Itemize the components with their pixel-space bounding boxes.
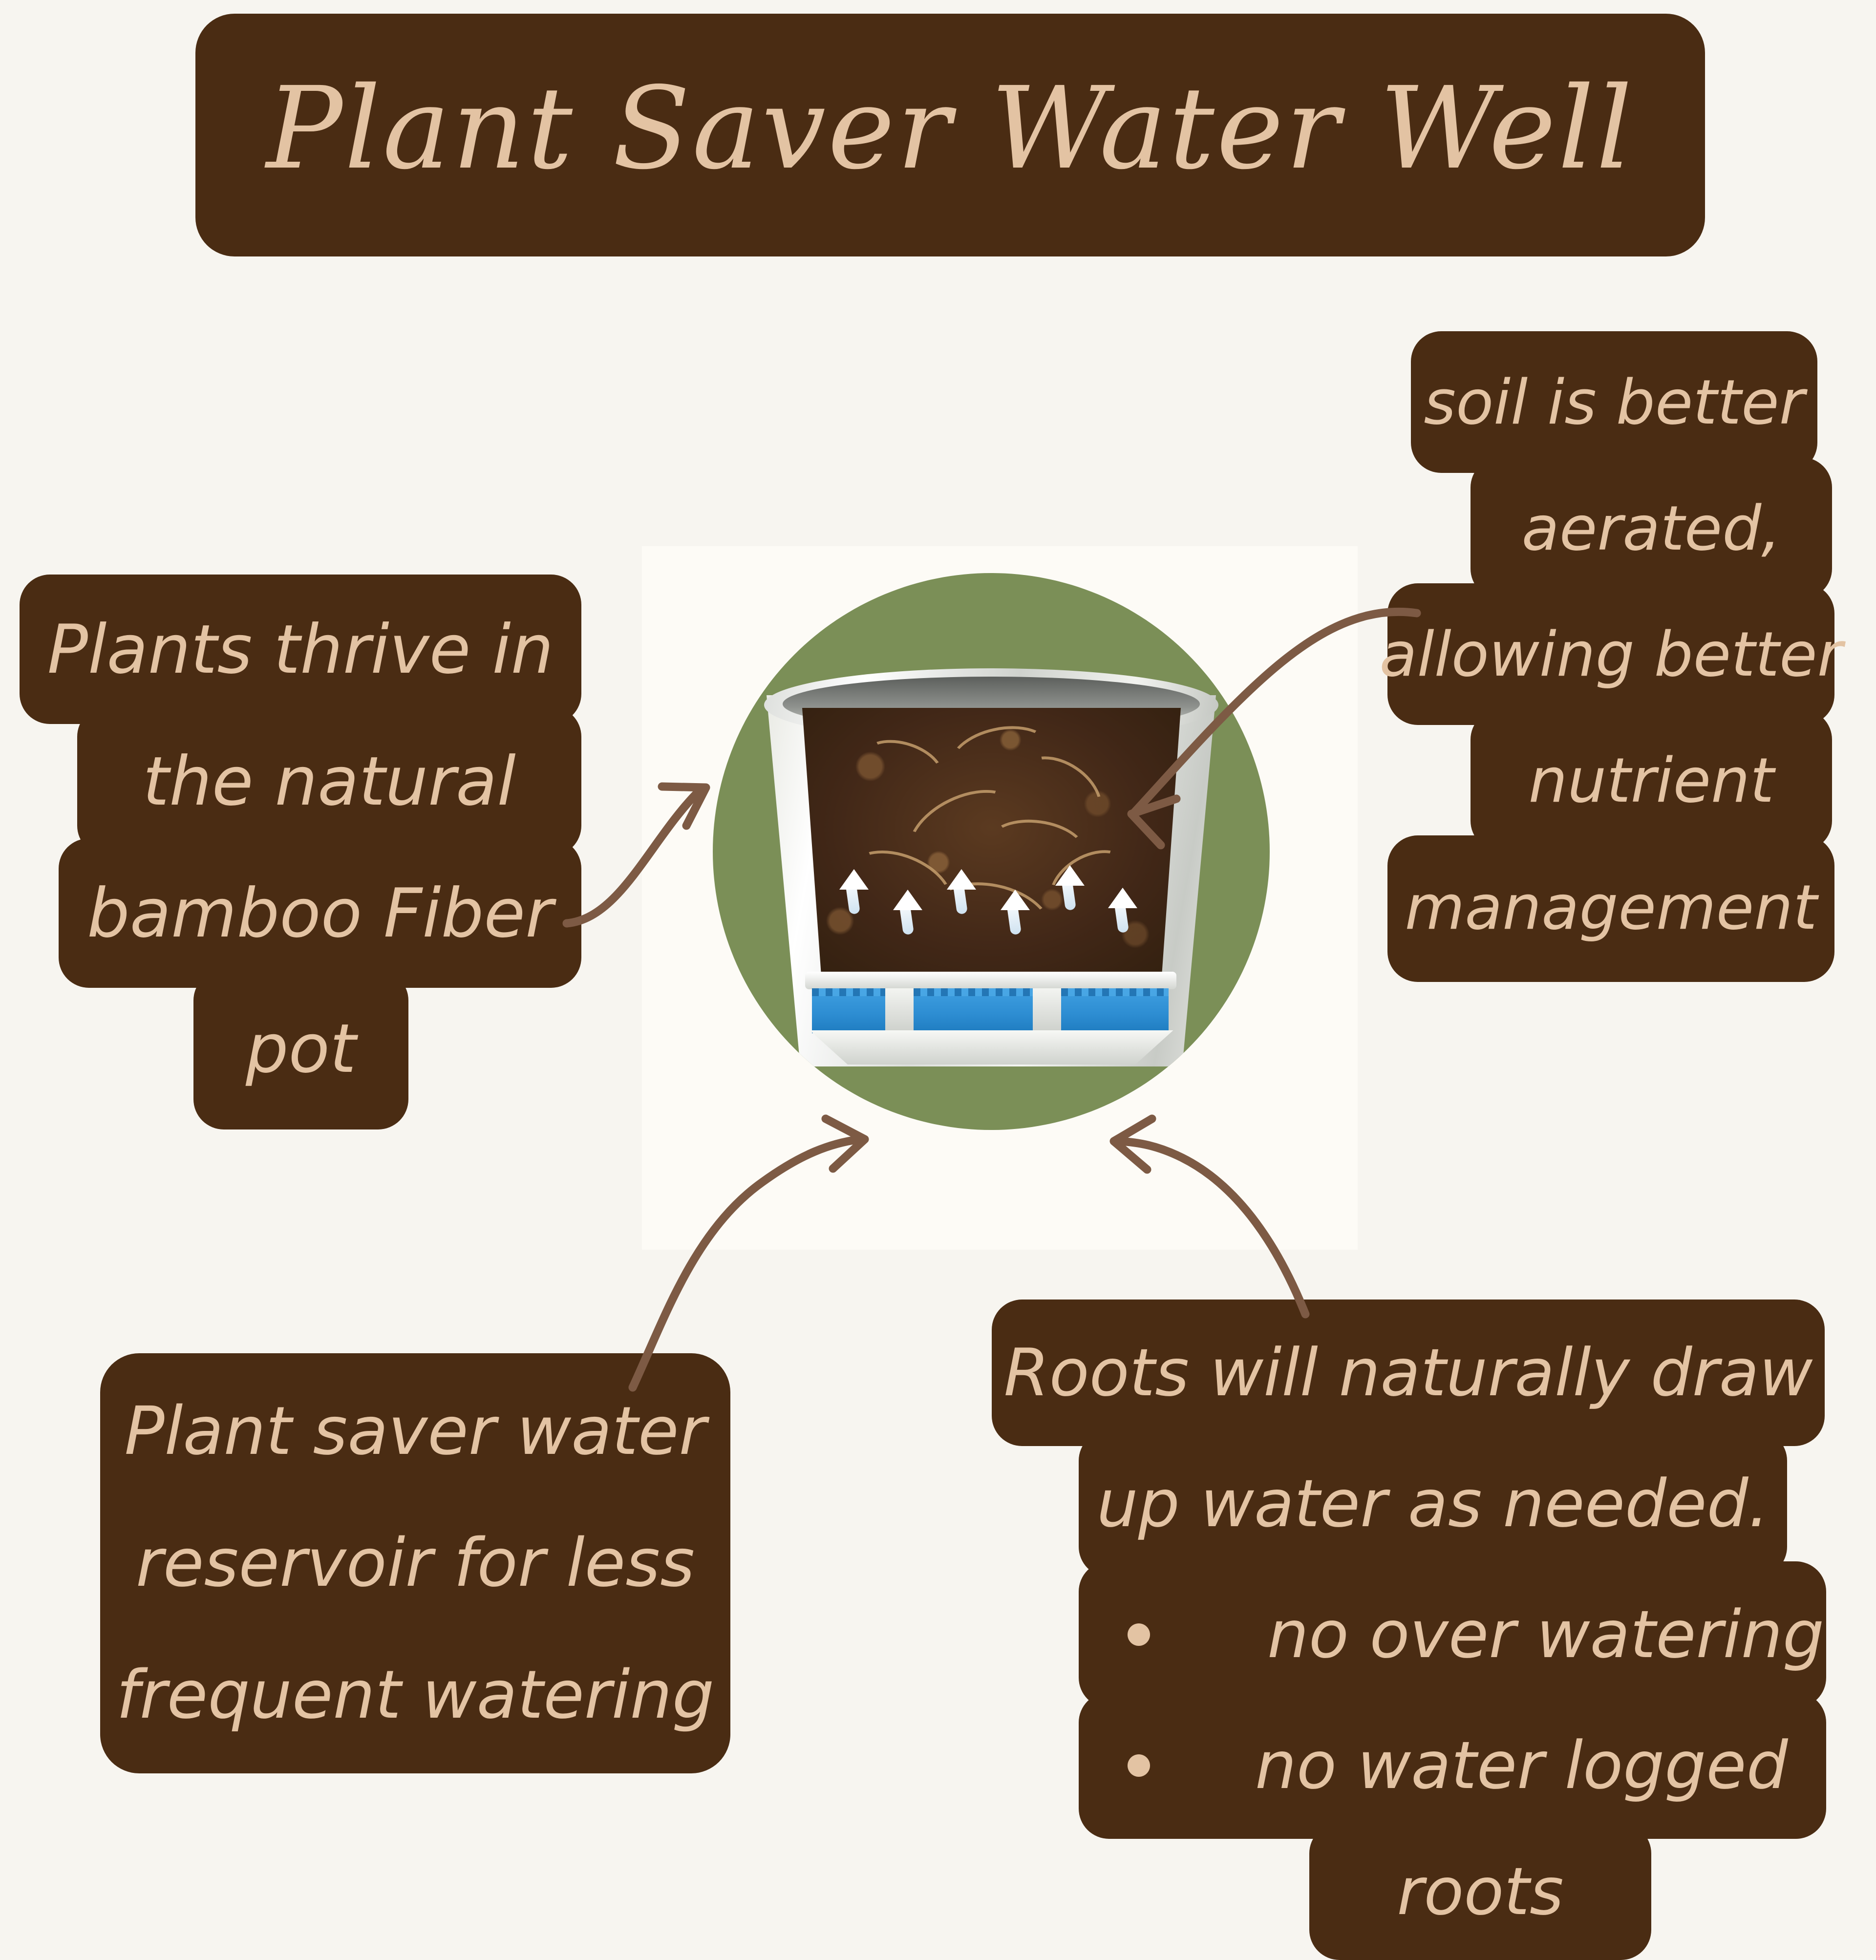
callout-bullet-text: no water logged [1255, 1727, 1788, 1804]
reservoir-shelf [805, 972, 1176, 989]
callout-line: allowing better [1387, 584, 1834, 724]
title-banner: Plant Saver Water Well [195, 14, 1705, 256]
airflow-arrow-icon [1052, 865, 1085, 910]
callout-bullet-text: roots [1309, 1825, 1651, 1958]
soil-aeration-callout: soil is better aerated, allowing better … [1407, 331, 1876, 1025]
callout-line: Plant saver water [100, 1373, 730, 1490]
callout-line: frequent watering [100, 1637, 730, 1754]
callout-line: management [1387, 836, 1834, 978]
callout-line: Roots will naturally draw [992, 1301, 1825, 1444]
water-chamber [914, 988, 1033, 1033]
page-title: Plant Saver Water Well [266, 72, 1634, 185]
callout-line: the natural [77, 711, 581, 851]
self-watering-pot-cutaway [745, 622, 1238, 1081]
pot-foot [802, 1030, 1181, 1065]
callout-line: aerated, [1471, 458, 1832, 598]
reservoir-rib [1033, 988, 1061, 1033]
callout-line: reservoir for less [100, 1505, 730, 1622]
water-reservoir [812, 988, 1169, 1033]
callout-bullet-row: no water logged [1079, 1694, 1826, 1837]
water-chamber [812, 988, 885, 1033]
airflow-arrow-icon [836, 869, 869, 914]
callout-line: pot [193, 975, 408, 1122]
airflow-arrow-icon [944, 869, 976, 914]
airflow-arrow-icon [998, 890, 1030, 935]
callout-line: bamboo Fiber [59, 843, 581, 983]
bullet-dot-icon [1128, 1623, 1150, 1646]
callout-line: nutrient [1471, 710, 1832, 850]
callout-line: up water as needed. [1079, 1432, 1787, 1575]
airflow-arrow-icon [890, 890, 922, 935]
callout-bullet-row: no over watering [1079, 1563, 1826, 1706]
bullet-dot-icon [1128, 1754, 1150, 1777]
roots-draw-water-callout: Roots will naturally draw up water as ne… [992, 1300, 1876, 1946]
root-strand [855, 730, 950, 804]
callout-line: soil is better [1411, 332, 1817, 472]
callout-line: Plants thrive in [20, 579, 581, 719]
callout-bullet-text: no over watering [1267, 1597, 1824, 1673]
infographic-canvas: Plant Saver Water Well [0, 0, 1876, 1946]
illustration-card [642, 546, 1358, 1250]
plants-thrive-callout: Plants thrive in the natural bamboo Fibe… [20, 575, 596, 1151]
soil-with-roots [802, 708, 1181, 974]
reservoir-rib [885, 988, 914, 1033]
green-circle-backdrop [713, 573, 1270, 1130]
water-reservoir-callout: Plant saver water reservoir for less fre… [100, 1353, 730, 1783]
water-chamber [1061, 988, 1169, 1033]
airflow-arrow-icon [1105, 888, 1137, 933]
